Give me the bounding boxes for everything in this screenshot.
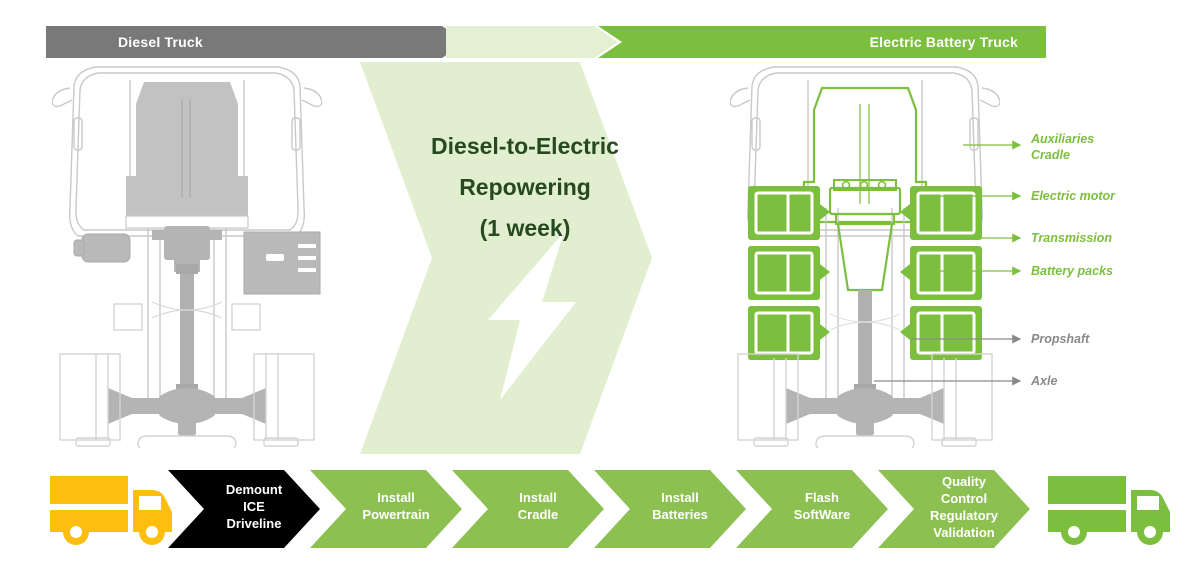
- process-flow-shapes: [0, 462, 1200, 557]
- callout-leader-lines: [0, 0, 1200, 462]
- callout-auxiliaries-cradle: Auxiliaries Cradle: [1031, 132, 1094, 163]
- callout-axle: Axle: [1031, 374, 1057, 390]
- callout-transmission: Transmission: [1031, 231, 1112, 247]
- flow-chevron-install-powertrain[interactable]: [310, 470, 462, 548]
- callout-electric-motor: Electric motor: [1031, 189, 1115, 205]
- flow-chevron-demount-ice-driveline[interactable]: [168, 470, 320, 548]
- flow-chevron-quality-control[interactable]: [878, 470, 1030, 548]
- callout-propshaft: Propshaft: [1031, 332, 1089, 348]
- flow-chevron-flash-software[interactable]: [736, 470, 888, 548]
- flow-chevron-install-batteries[interactable]: [594, 470, 746, 548]
- callout-battery-packs: Battery packs: [1031, 264, 1113, 280]
- diesel-truck-icon: [50, 476, 172, 545]
- repowering-infographic: Diesel Truck Electric Battery Truck: [0, 0, 1200, 577]
- flow-chevron-install-cradle[interactable]: [452, 470, 604, 548]
- electric-truck-icon: [1048, 476, 1170, 545]
- process-flow: Demount ICE Driveline Install Powertrain…: [0, 462, 1200, 557]
